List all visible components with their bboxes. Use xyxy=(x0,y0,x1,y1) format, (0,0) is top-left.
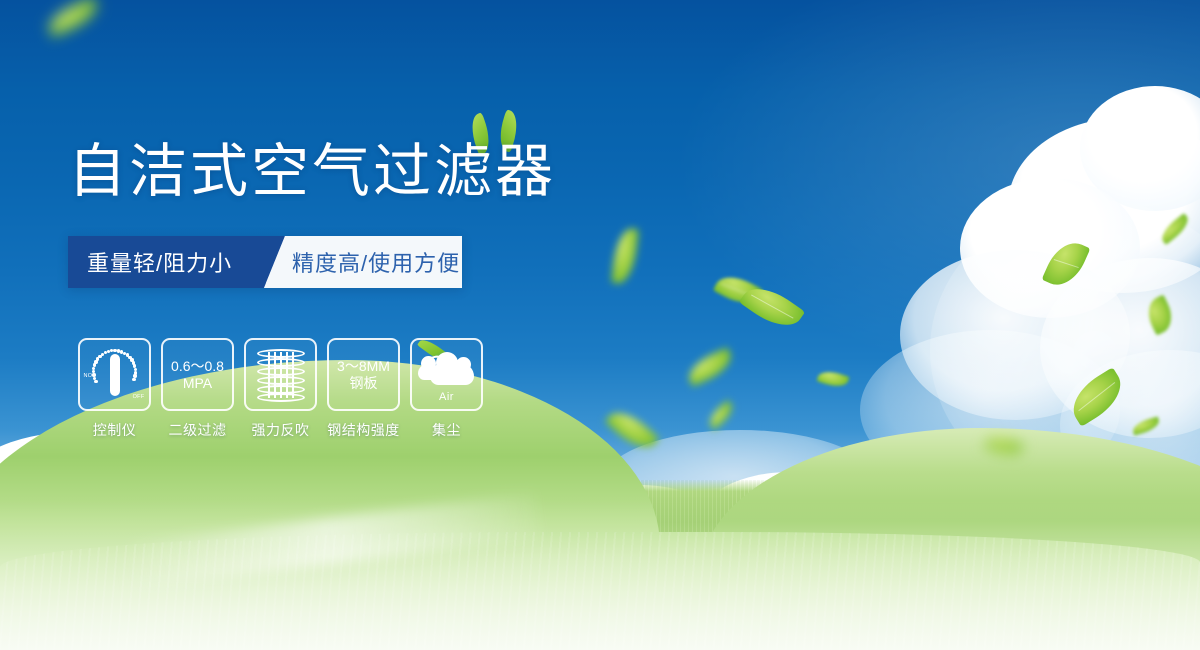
feature-list: NO OFF 控制仪 0.6～0.8 MPA 二级过滤 xyxy=(78,338,493,440)
pressure-text-icon: 0.6～0.8 MPA xyxy=(171,358,224,392)
feature-icon-box: 3～8MM 钢板 xyxy=(327,338,400,411)
gauge-tick-dot xyxy=(132,378,135,381)
feature-icon-box: 0.6～0.8 MPA xyxy=(161,338,234,411)
gauge-no-label: NO xyxy=(84,373,93,379)
feature-icon-box: NO OFF xyxy=(78,338,151,411)
product-banner: 自洁式空气过滤器 重量轻/阻力小 精度高/使用方便 NO OFF 控制仪 xyxy=(0,0,1200,650)
feature-caption: 控制仪 xyxy=(78,420,151,440)
feature-item-secondary-filter[interactable]: 0.6～0.8 MPA 二级过滤 xyxy=(161,338,234,440)
steel-plate-text-icon: 3～8MM 钢板 xyxy=(337,358,390,392)
steel-line1: 3～8MM xyxy=(337,358,390,375)
feature-caption: 强力反吹 xyxy=(244,420,317,440)
gauge-dial-icon: NO OFF xyxy=(84,346,146,404)
feature-caption: 钢结构强度 xyxy=(327,420,400,440)
feature-caption: 集尘 xyxy=(410,420,483,440)
gauge-tick-dot xyxy=(92,367,95,370)
subtitle-bar: 重量轻/阻力小 精度高/使用方便 xyxy=(68,236,462,288)
feature-item-dust-collection[interactable]: Air 集尘 xyxy=(410,338,483,440)
gauge-off-label: OFF xyxy=(133,394,145,400)
subtitle-left-segment: 重量轻/阻力小 xyxy=(68,236,266,288)
feature-caption: 二级过滤 xyxy=(161,420,234,440)
feature-item-controller[interactable]: NO OFF 控制仪 xyxy=(78,338,151,440)
pressure-line2: MPA xyxy=(171,375,224,392)
page-title: 自洁式空气过滤器 xyxy=(68,143,556,201)
subtitle-right-text: 精度高/使用方便 xyxy=(292,246,460,278)
feature-icon-box: Air xyxy=(410,338,483,411)
grass-field xyxy=(0,420,1200,650)
subtitle-left-text: 重量轻/阻力小 xyxy=(87,246,232,278)
feature-icon-box xyxy=(244,338,317,411)
feature-item-steel-strength[interactable]: 3～8MM 钢板 钢结构强度 xyxy=(327,338,400,440)
air-label: Air xyxy=(418,391,476,403)
feature-item-blowback[interactable]: 强力反吹 xyxy=(244,338,317,440)
steel-line2: 钢板 xyxy=(337,375,390,392)
pressure-line1: 0.6～0.8 xyxy=(171,358,224,375)
filter-cartridge-icon xyxy=(257,349,305,401)
gauge-tick-dot xyxy=(93,363,96,366)
air-cloud-icon: Air xyxy=(418,350,476,400)
subtitle-right-segment: 精度高/使用方便 xyxy=(266,236,462,288)
gauge-tick-dot xyxy=(94,380,97,383)
gauge-tick-dot xyxy=(92,373,95,376)
